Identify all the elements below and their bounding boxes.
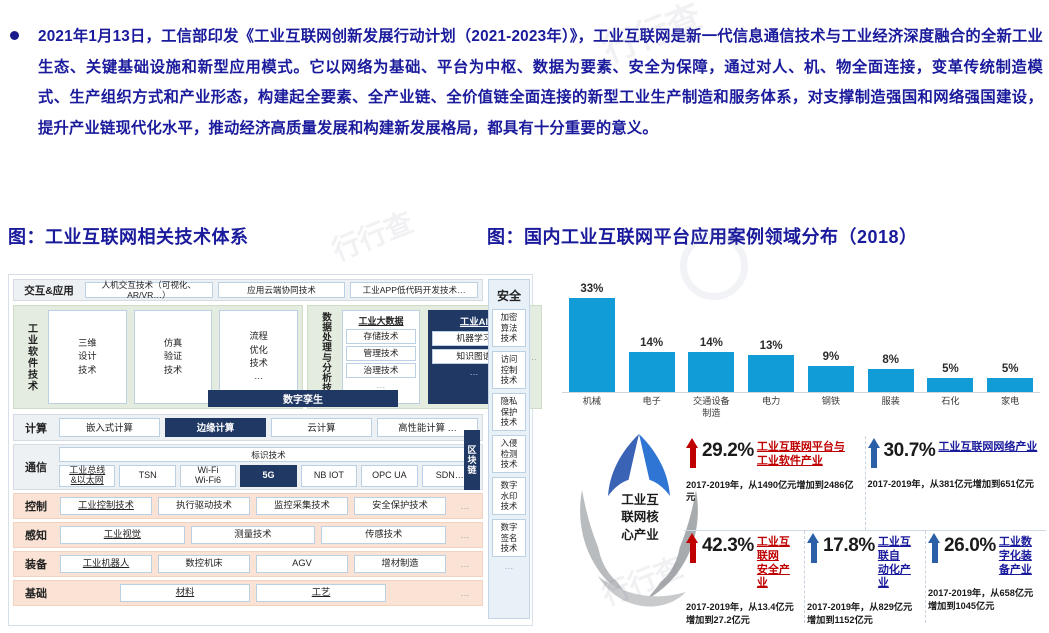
x-axis-tick-label: 交通设备 制造 bbox=[685, 396, 737, 419]
security-item-label: 数字 水印 技术 bbox=[501, 480, 518, 512]
comm-item: NB IOT bbox=[301, 465, 357, 487]
security-item-label: 加密 算法 技术 bbox=[501, 312, 518, 344]
security-item: 加密 算法 技术 bbox=[492, 309, 526, 347]
bar-value-label: 5% bbox=[942, 363, 959, 375]
stat-headline: 42.3%工业互联网 安全产业 bbox=[686, 533, 799, 591]
bar-value-label: 14% bbox=[700, 337, 723, 349]
sensing-item: 传感技术 bbox=[321, 526, 446, 544]
software-item: 仿真 验证 技术 bbox=[134, 310, 213, 404]
app-item: 人机交互技术（可视化、AR/VR…） bbox=[85, 282, 213, 298]
foundation-item: 材料 bbox=[120, 584, 250, 602]
arrow-up-icon bbox=[868, 438, 881, 468]
security-item-label: 访问 控制 技术 bbox=[501, 354, 518, 386]
software-item-label: 流程 优化 技术 … bbox=[249, 330, 267, 383]
identification-tech: 标识技术 bbox=[59, 447, 478, 462]
blockchain-label: 区块链 bbox=[464, 430, 480, 490]
stats-row-bottom: 42.3%工业互联网 安全产业2017-2019年，从13.4亿元增加到27.2… bbox=[684, 531, 1046, 623]
communication-row: 通信 标识技术 工业总线 &以太网 TSN Wi-Fi Wi-Fi6 5G NB… bbox=[13, 444, 483, 490]
security-item: 数字 水印 技术 bbox=[492, 477, 526, 515]
x-axis-labels: 机械电子交通设备 制造电力钢铁服装石化家电 bbox=[562, 396, 1040, 419]
x-axis-tick-label: 钢铁 bbox=[805, 396, 857, 419]
bar-value-label: 9% bbox=[823, 351, 840, 363]
sensing-more: … bbox=[452, 530, 478, 540]
big-data-item: 存储技术 bbox=[346, 329, 416, 344]
stat-label: 工业互联网 安全产业 bbox=[757, 533, 799, 591]
bar-chart: 33%14%14%13%9%8%5%5% 机械电子交通设备 制造电力钢铁服装石化… bbox=[556, 266, 1046, 418]
row-label-computing: 计算 bbox=[18, 420, 54, 436]
control-more: … bbox=[452, 501, 478, 511]
foundation-item: 工艺 bbox=[256, 584, 386, 602]
computing-item-highlight: 边缘计算 bbox=[165, 418, 266, 437]
intro-paragraph-block: 2021年1月13日，工信部印发《工业互联网创新发展行动计划（2021-2023… bbox=[0, 22, 1049, 144]
security-item: 隐私 保护 技术 bbox=[492, 393, 526, 431]
figure-caption-right: 图：国内工业互联网平台应用案例领域分布（2018） bbox=[487, 223, 918, 249]
bar[interactable] bbox=[987, 378, 1033, 392]
security-item-label: 数字 签名 技术 bbox=[501, 522, 518, 554]
bar[interactable] bbox=[868, 369, 914, 392]
stat-headline: 29.2%工业互联网平台与 工业软件产业 bbox=[686, 438, 860, 469]
stat-label: 工业互联网网络产业 bbox=[938, 438, 1037, 455]
bar-chart-plot-area: 33%14%14%13%9%8%5%5% bbox=[562, 274, 1040, 392]
interaction-application-row: 交互&应用 人机交互技术（可视化、AR/VR…） 应用云端协同技术 工业APP低… bbox=[13, 279, 483, 301]
computing-item: 高性能计算 … bbox=[377, 418, 478, 437]
comm-item-label: 工业总线 &以太网 bbox=[69, 466, 105, 486]
stat-percentage: 42.3% bbox=[702, 533, 754, 555]
equipment-item: 增材制造 bbox=[354, 555, 446, 573]
software-item-label: 三维 设计 技术 bbox=[78, 337, 96, 377]
platform-distribution-figure: 33%14%14%13%9%8%5%5% 机械电子交通设备 制造电力钢铁服装石化… bbox=[556, 266, 1046, 628]
x-axis-line bbox=[562, 392, 1040, 393]
stat-label: 工业互联网平台与 工业软件产业 bbox=[757, 438, 845, 469]
control-item: 监控采集技术 bbox=[256, 497, 348, 515]
stat-headline: 30.7%工业互联网网络产业 bbox=[868, 438, 1042, 468]
software-label: 工业软件技术 bbox=[18, 310, 44, 404]
tech-architecture-figure: 交互&应用 人机交互技术（可视化、AR/VR…） 应用云端协同技术 工业APP低… bbox=[8, 274, 533, 626]
core-industry-label: 工业互 联网核 心产业 bbox=[604, 492, 676, 544]
sensing-item: 测量技术 bbox=[191, 526, 316, 544]
computing-item: 嵌入式计算 bbox=[59, 418, 160, 437]
row-label-communication: 通信 bbox=[18, 459, 54, 475]
stat-cell: 29.2%工业互联网平台与 工业软件产业2017-2019年，从1490亿元增加… bbox=[684, 436, 866, 530]
comm-item: TSN bbox=[119, 465, 175, 487]
computing-row: 计算 嵌入式计算 边缘计算 云计算 高性能计算 … bbox=[13, 414, 483, 441]
arrow-up-icon bbox=[807, 533, 820, 563]
comm-item: Wi-Fi Wi-Fi6 bbox=[180, 465, 236, 487]
equipment-item: 数控机床 bbox=[158, 555, 250, 573]
comm-item: 工业总线 &以太网 bbox=[59, 465, 115, 487]
security-column: 安全 加密 算法 技术 访问 控制 技术 隐私 保护 技术 入侵 检测 技术 数… bbox=[488, 279, 530, 619]
stat-description: 2017-2019年，从13.4亿元增加到27.2亿元 bbox=[686, 591, 799, 627]
stat-label: 工业互联自 动化产业 bbox=[878, 533, 920, 591]
row-label-control: 控制 bbox=[18, 498, 54, 514]
bar[interactable] bbox=[569, 298, 615, 392]
big-data-more: … bbox=[346, 380, 416, 390]
arrow-up-icon bbox=[686, 533, 699, 563]
x-axis-tick-label: 石化 bbox=[924, 396, 976, 419]
security-more: … bbox=[492, 561, 526, 571]
security-item: 入侵 检测 技术 bbox=[492, 435, 526, 473]
industry-growth-stats: 29.2%工业互联网平台与 工业软件产业2017-2019年，从1490亿元增加… bbox=[684, 436, 1046, 624]
big-data-item: 管理技术 bbox=[346, 346, 416, 361]
stat-cell: 26.0%工业数字化装 备产业2017-2019年，从658亿元增加到1045亿… bbox=[926, 531, 1046, 623]
security-item-label: 入侵 检测 技术 bbox=[501, 438, 518, 470]
stat-label: 工业数字化装 备产业 bbox=[999, 533, 1041, 577]
computing-item: 云计算 bbox=[271, 418, 372, 437]
bar-group: 14% bbox=[685, 274, 737, 392]
security-title: 安全 bbox=[492, 287, 526, 304]
control-item: 执行驱动技术 bbox=[158, 497, 250, 515]
arrow-up-icon bbox=[686, 438, 699, 468]
bar-value-label: 14% bbox=[640, 337, 663, 349]
control-item: 工业控制技术 bbox=[60, 497, 152, 515]
bullet-icon bbox=[10, 31, 19, 40]
security-item: 数字 签名 技术 bbox=[492, 519, 526, 557]
comm-item-highlight: 5G bbox=[240, 465, 296, 487]
figure-caption-left: 图：工业互联网相关技术体系 bbox=[8, 223, 249, 249]
bar-group: 9% bbox=[805, 274, 857, 392]
sensing-row: 感知 工业视觉 测量技术 传感技术 … bbox=[13, 522, 483, 548]
stat-percentage: 26.0% bbox=[944, 533, 996, 555]
x-axis-tick-label: 服装 bbox=[865, 396, 917, 419]
stat-description: 2017-2019年，从381亿元增加到651亿元 bbox=[868, 468, 1042, 491]
bar-value-label: 13% bbox=[760, 340, 783, 352]
foundation-more: … bbox=[452, 588, 478, 598]
security-item: 访问 控制 技术 bbox=[492, 351, 526, 389]
bar-group: 33% bbox=[566, 274, 618, 392]
stat-headline: 26.0%工业数字化装 备产业 bbox=[928, 533, 1041, 577]
control-item: 安全保护技术 bbox=[354, 497, 446, 515]
bar[interactable] bbox=[808, 366, 854, 392]
equipment-item: AGV bbox=[256, 555, 348, 573]
bar-value-label: 8% bbox=[882, 354, 899, 366]
x-axis-tick-label: 电子 bbox=[626, 396, 678, 419]
row-label-foundation: 基础 bbox=[18, 585, 54, 601]
intro-paragraph: 2021年1月13日，工信部印发《工业互联网创新发展行动计划（2021-2023… bbox=[0, 22, 1049, 144]
stat-cell: 17.8%工业互联自 动化产业2017-2019年，从829亿元增加到1152亿… bbox=[805, 531, 926, 623]
app-item: 应用云端协同技术 bbox=[218, 282, 346, 298]
stat-description: 2017-2019年，从658亿元增加到1045亿元 bbox=[928, 577, 1041, 613]
arrow-up-icon bbox=[928, 533, 941, 563]
x-axis-tick-label: 电力 bbox=[745, 396, 797, 419]
equipment-more: … bbox=[452, 559, 478, 569]
stat-headline: 17.8%工业互联自 动化产业 bbox=[807, 533, 920, 591]
stat-description: 2017-2019年，从829亿元增加到1152亿元 bbox=[807, 591, 920, 627]
x-axis-tick-label: 机械 bbox=[566, 396, 618, 419]
big-data-item: 治理技术 bbox=[346, 363, 416, 378]
foundation-row: 基础 材料 工艺 … bbox=[13, 580, 483, 606]
bar[interactable] bbox=[688, 352, 734, 392]
bar[interactable] bbox=[629, 352, 675, 392]
x-axis-tick-label: 家电 bbox=[984, 396, 1036, 419]
stat-cell: 42.3%工业互联网 安全产业2017-2019年，从13.4亿元增加到27.2… bbox=[684, 531, 805, 623]
stats-row-top: 29.2%工业互联网平台与 工业软件产业2017-2019年，从1490亿元增加… bbox=[684, 436, 1046, 531]
comm-item-label: Wi-Fi Wi-Fi6 bbox=[195, 466, 221, 486]
comm-item: OPC UA bbox=[361, 465, 417, 487]
bar-group: 13% bbox=[745, 274, 797, 392]
stat-description: 2017-2019年，从1490亿元增加到2486亿元 bbox=[686, 469, 860, 505]
security-item-label: 隐私 保护 技术 bbox=[501, 396, 518, 428]
sensing-item: 工业视觉 bbox=[60, 526, 185, 544]
equipment-row: 装备 工业机器人 数控机床 AGV 增材制造 … bbox=[13, 551, 483, 577]
stat-percentage: 17.8% bbox=[823, 533, 875, 555]
row-label-sensing: 感知 bbox=[18, 527, 54, 543]
stat-percentage: 30.7% bbox=[884, 438, 936, 460]
bar-value-label: 5% bbox=[1002, 363, 1019, 375]
stat-percentage: 29.2% bbox=[702, 438, 754, 460]
bar-value-label: 33% bbox=[580, 283, 603, 295]
software-item-label: 仿真 验证 技术 bbox=[164, 337, 182, 377]
control-row: 控制 工业控制技术 执行驱动技术 监控采集技术 安全保护技术 … bbox=[13, 493, 483, 519]
bar[interactable] bbox=[748, 355, 794, 392]
bar-group: 14% bbox=[626, 274, 678, 392]
watermark: 行行查 bbox=[326, 201, 419, 270]
software-item: 三维 设计 技术 bbox=[48, 310, 127, 404]
bar-group: 5% bbox=[924, 274, 976, 392]
row-label-interaction: 交互&应用 bbox=[18, 283, 80, 298]
app-item: 工业APP低代码开发技术… bbox=[350, 282, 478, 298]
bar-group: 5% bbox=[984, 274, 1036, 392]
digital-twin-banner: 数字孪生 bbox=[208, 390, 398, 407]
stat-cell: 30.7%工业互联网网络产业2017-2019年，从381亿元增加到651亿元 bbox=[866, 436, 1047, 530]
big-data-title: 工业大数据 bbox=[346, 314, 416, 327]
bar[interactable] bbox=[927, 378, 973, 392]
bar-group: 8% bbox=[865, 274, 917, 392]
row-label-equipment: 装备 bbox=[18, 556, 54, 572]
equipment-item: 工业机器人 bbox=[60, 555, 152, 573]
